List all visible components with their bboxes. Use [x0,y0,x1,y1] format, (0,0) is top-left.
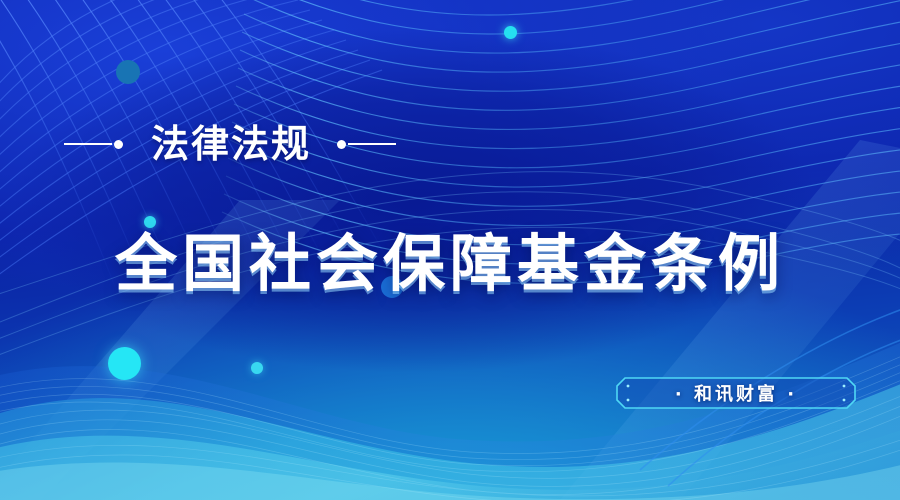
eyebrow-row: 法律法规 [64,118,396,170]
right-rule-dot [337,140,346,149]
cyan-dot-large-lower-left-icon [108,347,141,380]
steel-dot-upper-left-icon [116,60,140,84]
eyebrow-label: 法律法规 [151,125,311,163]
right-rule-line [348,143,396,145]
cyan-dot-small-lower-left-icon [251,362,263,374]
banner-root: 法律法规 全国社会保障基金条例 · 和讯财富 · [0,0,900,500]
brand-badge-label: · 和讯财富 · [616,377,856,409]
left-rule-dot [114,140,123,149]
cyan-dot-top-center-icon [504,26,517,39]
right-rule-icon [337,140,396,149]
left-rule-icon [64,140,123,149]
brand-badge: · 和讯财富 · [616,377,856,409]
left-rule-line [64,143,112,145]
page-title: 全国社会保障基金条例 [0,228,900,299]
